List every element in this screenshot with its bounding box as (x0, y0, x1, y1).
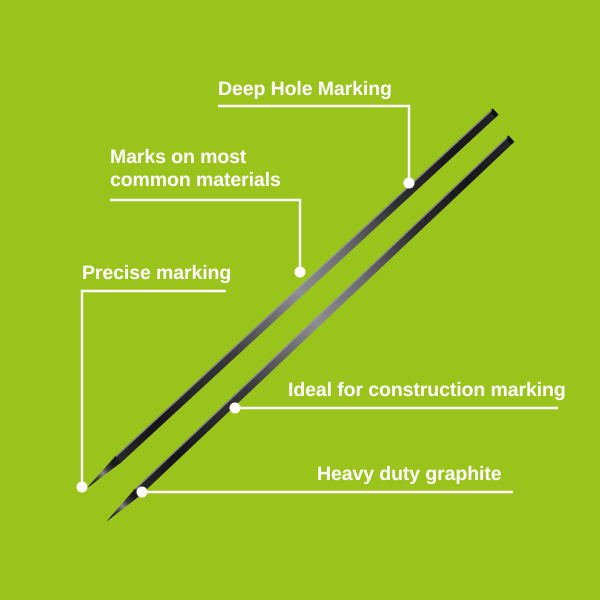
callout-label-deep-hole-marking: Deep Hole Marking (218, 78, 392, 101)
callout-dot-precise-marking[interactable] (77, 482, 88, 493)
callout-dot-heavy-duty-graphite[interactable] (137, 487, 148, 498)
callout-label-marks-on-most-common-materials: Marks on most common materials (110, 146, 281, 191)
callout-dot-ideal-for-construction-marking[interactable] (230, 403, 241, 414)
callout-label-heavy-duty-graphite: Heavy duty graphite (317, 463, 501, 486)
callout-label-precise-marking: Precise marking (82, 262, 231, 285)
callout-dot-deep-hole-marking[interactable] (404, 178, 415, 189)
callout-label-line-1: Marks on most (110, 146, 246, 168)
pencil-upper-tip (83, 456, 121, 492)
callout-label-ideal-for-construction-marking: Ideal for construction marking (288, 379, 566, 402)
product-feature-poster: Deep Hole Marking Marks on most common m… (0, 0, 600, 600)
leader-line-precise-marking (82, 291, 226, 487)
pencil-lower-tip (103, 489, 141, 525)
callout-label-line-2: common materials (110, 169, 281, 191)
callout-dot-marks-on-most-common-materials[interactable] (295, 267, 306, 278)
